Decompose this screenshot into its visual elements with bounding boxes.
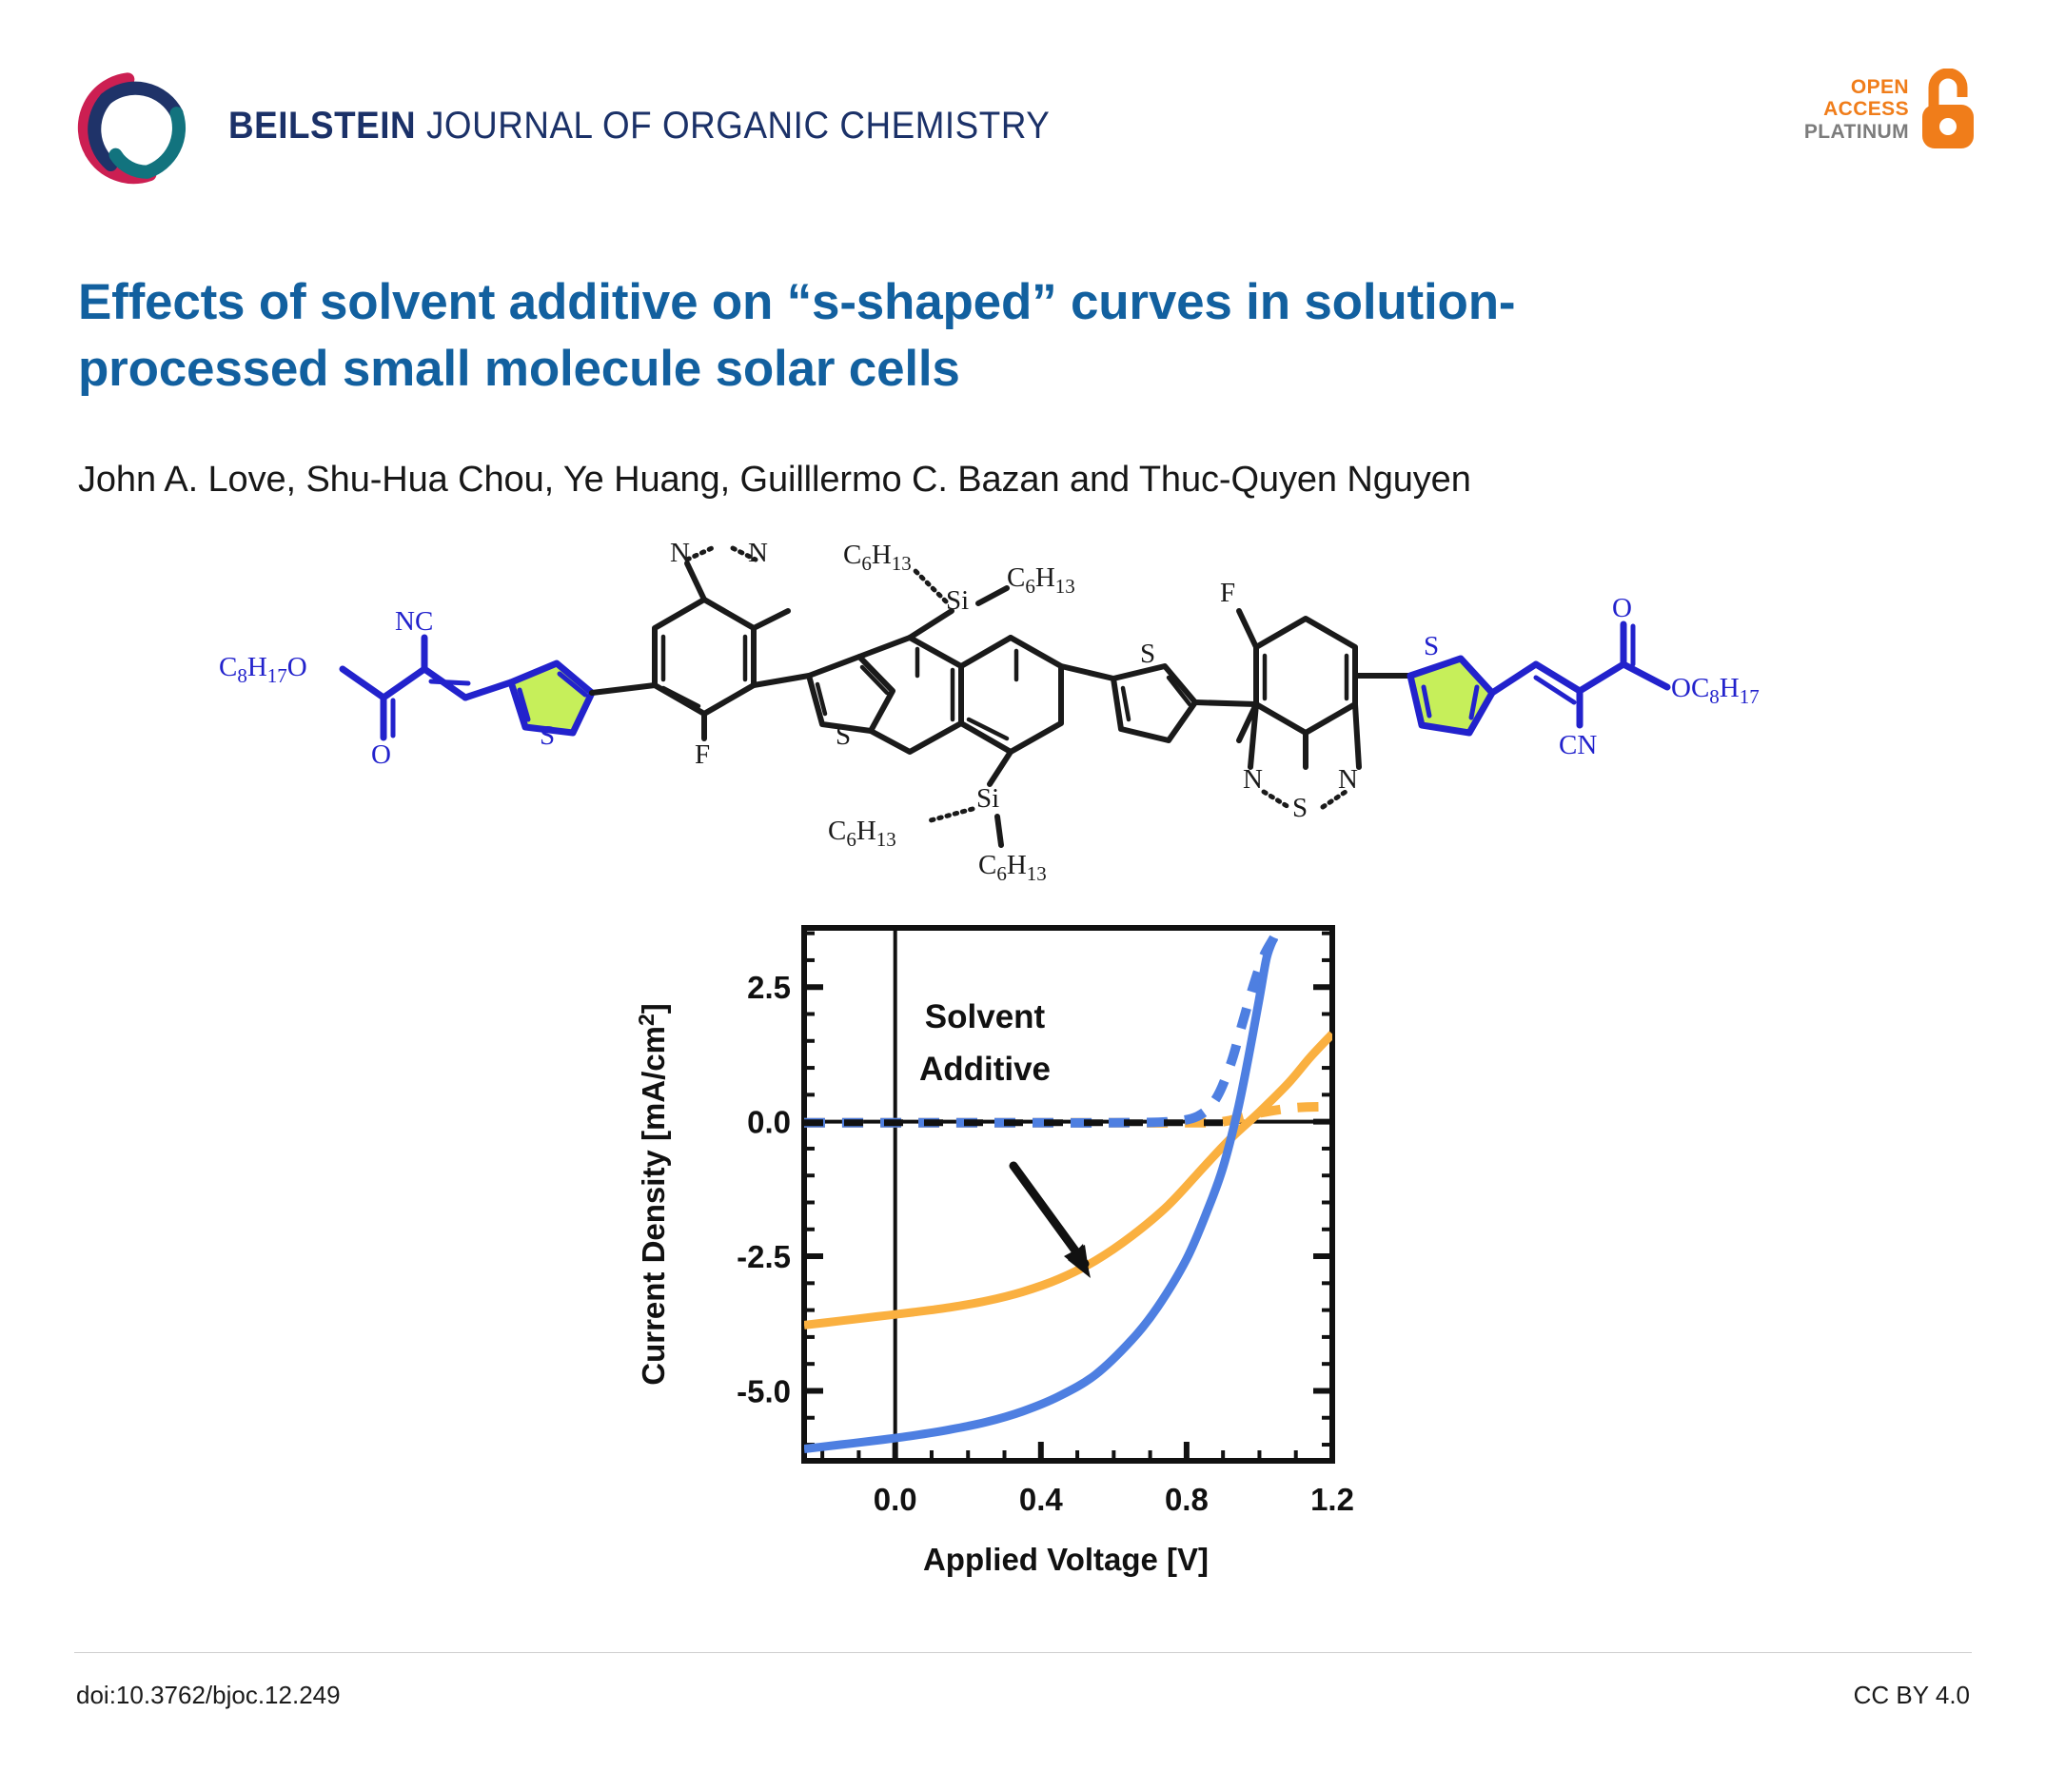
label-si-top-hexyl-a: C6H13 [843,542,912,575]
label-dts-thiophene-s-right: S [1140,639,1155,669]
open-access-words: OPEN ACCESS PLATINUM [1804,76,1909,144]
journal-title-bold: BEILSTEIN [228,105,416,147]
x-tick-label: 1.2 [1310,1482,1354,1517]
journal-title-rest: JOURNAL OF ORGANIC CHEMISTRY [416,105,1050,147]
label-bt-right-f: F [1220,578,1235,608]
x-tick-label: 0.4 [1019,1482,1064,1517]
label-right-alkoxy: OC8H17 [1671,673,1760,708]
label-si-top-hexyl-b: C6H13 [1007,562,1075,598]
label-bt-left-n1: N [670,542,690,568]
open-access-line-open: OPEN [1851,76,1909,99]
plot-frame [804,928,1332,1461]
x-tick-label: 0.8 [1165,1482,1209,1517]
y-tick-label: 0.0 [747,1105,791,1140]
jv-curve-chart: .axtxt { font-family:"Liberation Sans", … [609,904,1437,1608]
license-text: CC BY 4.0 [1854,1681,1970,1710]
page-header: BEILSTEIN JOURNAL OF ORGANIC CHEMISTRY O… [0,0,2046,205]
label-left-carbonyl-o: O [371,739,391,770]
y-tick-label: 2.5 [747,970,791,1005]
x-tick-label: 0.0 [874,1482,917,1517]
beilstein-triple-spiral-logo [74,65,196,187]
open-padlock-icon [1918,69,1977,150]
author-list: John A. Love, Shu-Hua Chou, Ye Huang, Gu… [78,460,1886,501]
open-access-line-access: ACCESS [1823,98,1909,121]
label-left-thiophene-s: S [540,720,555,751]
label-dts-thiophene-s-left: S [836,720,851,751]
doi-text: doi:10.3762/bjoc.12.249 [76,1681,341,1710]
data-curves [804,937,1332,1448]
molecule-structure-diagram: .bk { stroke:#1a1a1a; stroke-width:6; fi… [200,542,1875,923]
label-bt-left-f: F [695,739,710,770]
label-si-bottom-hexyl-b: C6H13 [978,850,1047,885]
label-left-alkoxy: C8H17O [219,652,307,687]
label-bt-right-s: S [1292,793,1308,823]
annotation-line-2: Additive [919,1051,1051,1088]
label-si-bottom-hexyl-a: C6H13 [828,816,896,851]
series-curve [804,1034,1332,1325]
y-tick-label: -5.0 [737,1373,791,1408]
label-si-bottom: Si [976,783,999,814]
y-tick-label: -2.5 [737,1239,791,1274]
open-access-badge: OPEN ACCESS PLATINUM [1804,69,1977,150]
label-bt-left-s: S [710,542,725,545]
footer-divider [74,1652,1972,1653]
label-bt-right-n2: N [1338,764,1358,795]
y-axis-label: Current Density [mA/cm2] [634,1003,671,1386]
journal-title: BEILSTEIN JOURNAL OF ORGANIC CHEMISTRY [228,105,1050,148]
down-right-arrow-icon [1013,1166,1091,1278]
label-right-carbonyl-o: O [1612,593,1632,623]
journal-branding: BEILSTEIN JOURNAL OF ORGANIC CHEMISTRY [74,65,1121,187]
label-right-thiophene-s: S [1424,631,1439,661]
x-axis-label: Applied Voltage [V] [923,1542,1209,1577]
annotation-line-1: Solvent [925,998,1046,1035]
open-access-line-platinum: PLATINUM [1804,121,1909,144]
label-right-cyano: CN [1559,730,1597,760]
label-left-cyano: NC [395,606,433,637]
label-bt-right-n1: N [1243,764,1263,795]
page-title: Effects of solvent additive on “s-shaped… [78,269,1753,404]
label-si-top: Si [946,585,969,616]
graphical-abstract: .bk { stroke:#1a1a1a; stroke-width:6; fi… [0,542,2046,1618]
